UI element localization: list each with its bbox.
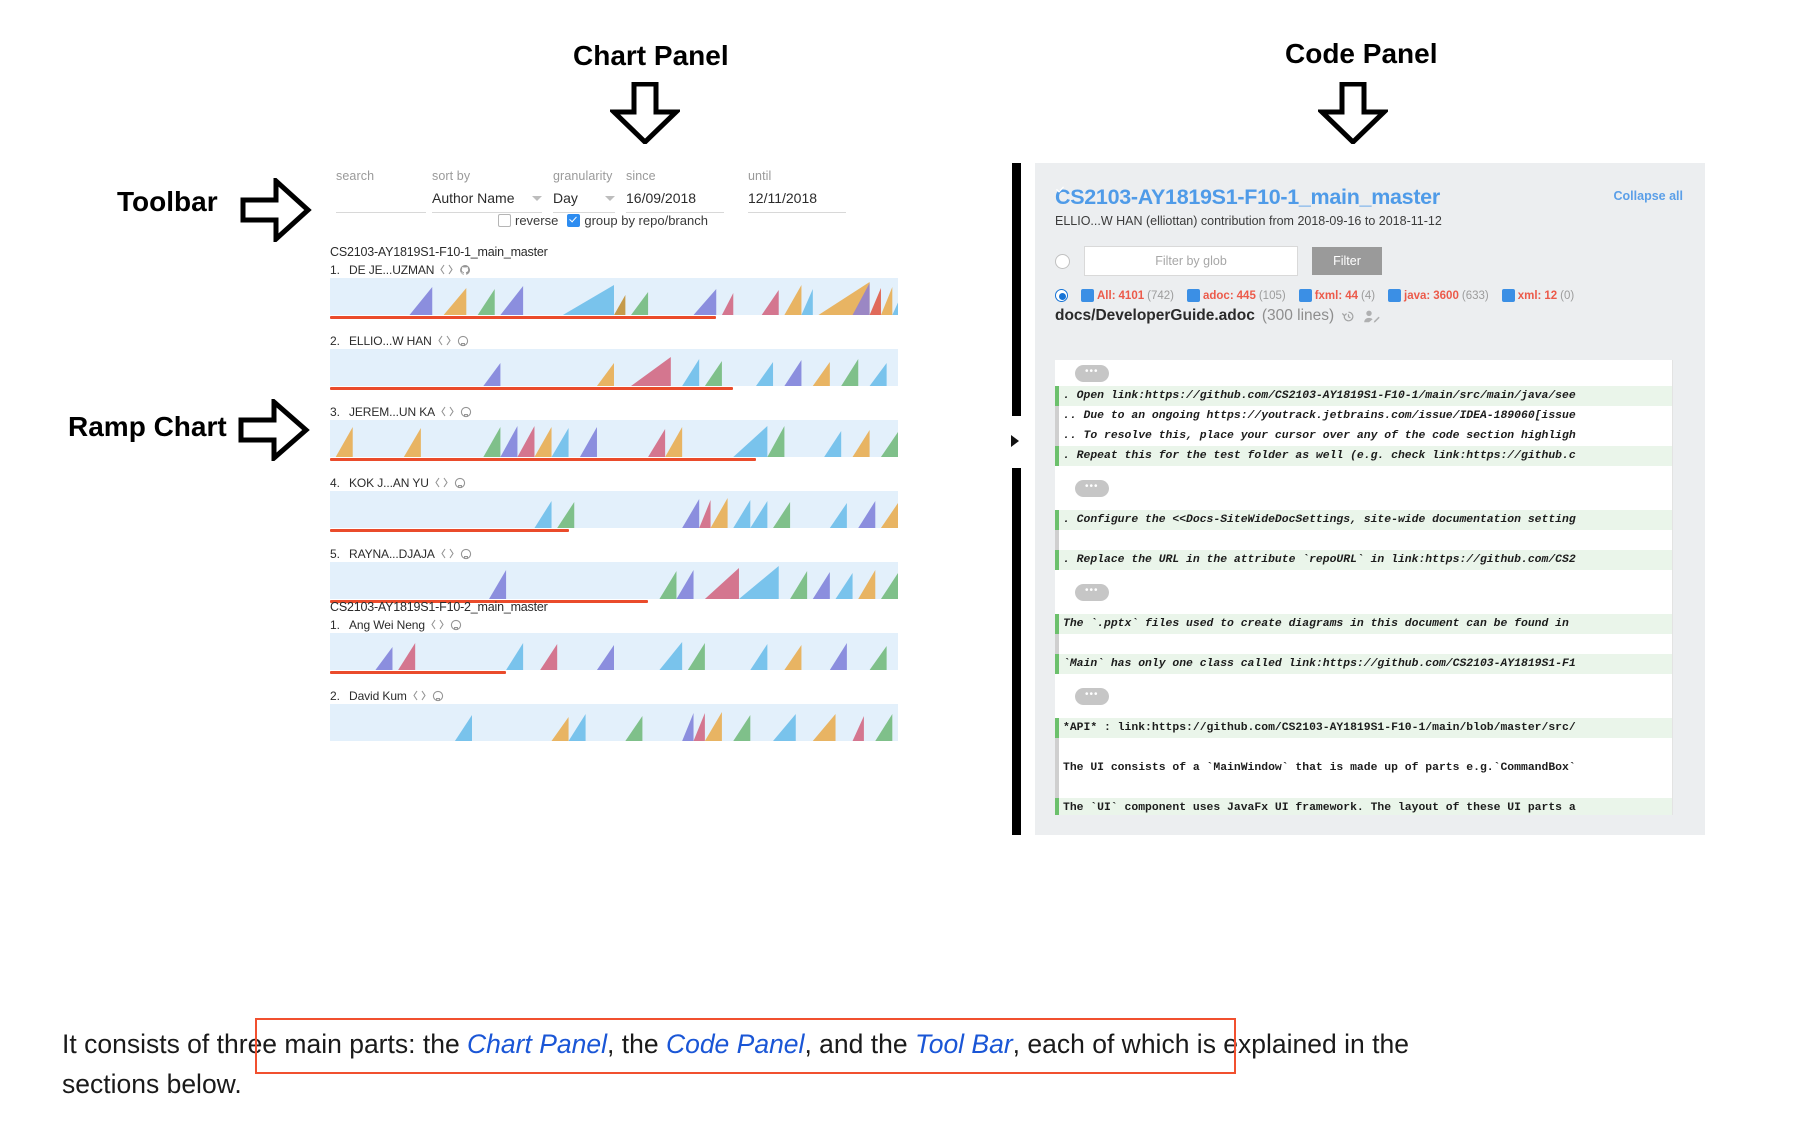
repo-group: CS2103-AY1819S1-F10-2_main_master 1. Ang… — [330, 600, 898, 741]
author-name: RAYNA...DJAJA — [349, 547, 435, 561]
code-gap — [1055, 605, 1672, 614]
ramp-chart[interactable] — [330, 491, 898, 528]
author-row: 5. RAYNA...DJAJA — [330, 545, 898, 603]
caption-highlight-box — [255, 1018, 1236, 1074]
code-line: . Repeat this for the test folder as wel… — [1055, 446, 1672, 466]
toolbar: search sort by Author Name granularity D… — [330, 163, 1010, 233]
code-panel-title[interactable]: CS2103-AY1819S1-F10-1_main_master — [1055, 185, 1695, 210]
file-type-name: xml: — [1518, 290, 1542, 302]
ramp-chart[interactable] — [330, 349, 898, 386]
ramp-chart[interactable] — [330, 562, 898, 599]
file-type-name: All: — [1097, 290, 1116, 302]
file-line-count: (300 lines) — [1262, 307, 1334, 325]
search-input[interactable] — [336, 189, 426, 207]
file-type-count: 4101 — [1119, 290, 1145, 302]
until-input[interactable]: 12/11/2018 — [748, 189, 846, 207]
sort-by-field[interactable]: sort by Author Name — [432, 169, 542, 213]
contribution-bar — [330, 671, 506, 674]
group-by-label: group by repo/branch — [584, 213, 708, 228]
granularity-field[interactable]: granularity Day — [553, 169, 615, 213]
code-line: .. To resolve this, place your cursor ov… — [1055, 426, 1672, 446]
code-line-blank — [1055, 634, 1672, 654]
file-type-adoc[interactable]: adoc: 445 (105) — [1187, 289, 1286, 302]
code-content[interactable]: ••• . Open link:https://github.com/CS210… — [1055, 360, 1673, 815]
author-rank: 4. — [330, 476, 343, 490]
granularity-select[interactable]: Day — [553, 189, 615, 207]
annotation-label-chart-panel: Chart Panel — [573, 40, 729, 72]
repo-title: CS2103-AY1819S1-F10-1_main_master — [330, 245, 898, 259]
checkbox-checked-icon — [1299, 289, 1312, 302]
contribution-bar — [330, 316, 716, 319]
chart-panel: search sort by Author Name granularity D… — [330, 163, 1010, 835]
code-line: . Replace the URL in the attribute `repo… — [1055, 550, 1672, 570]
toolbar-checkbox-group: reverse group by repo/branch — [498, 213, 708, 228]
file-type-name: java: — [1404, 290, 1430, 302]
author-name: JEREM...UN KA — [349, 405, 435, 419]
author-rank: 1. — [330, 263, 343, 277]
author-name: Ang Wei Neng — [349, 618, 425, 632]
code-icon[interactable] — [441, 406, 454, 417]
since-label: since — [626, 169, 724, 183]
chevron-down-icon — [605, 196, 615, 201]
expand-ellipsis-button[interactable]: ••• — [1075, 480, 1109, 497]
github-icon[interactable] — [432, 690, 444, 702]
search-field[interactable]: search — [336, 169, 426, 213]
author-row: 1. DE JE...UZMAN — [330, 261, 898, 319]
code-icon[interactable] — [413, 690, 426, 701]
author-header: 2. David Kum — [330, 687, 898, 704]
code-line: The UI consists of a `MainWindow` that i… — [1055, 758, 1672, 778]
file-type-sub: (633) — [1462, 290, 1489, 302]
file-type-xml[interactable]: xml: 12 (0) — [1502, 289, 1575, 302]
code-ellipsis-row[interactable]: ••• — [1055, 579, 1672, 605]
code-ellipsis-row[interactable]: ••• — [1055, 360, 1672, 386]
contribution-bar — [330, 387, 733, 390]
since-field[interactable]: since 16/09/2018 — [626, 169, 724, 213]
expand-ellipsis-button[interactable]: ••• — [1075, 688, 1109, 705]
blame-icon[interactable] — [1363, 309, 1380, 324]
reverse-label: reverse — [515, 213, 558, 228]
panel-splitter-bottom[interactable] — [1012, 468, 1021, 835]
code-line: . Configure the <<Docs-SiteWideDocSettin… — [1055, 510, 1672, 530]
checkbox-checked-icon — [1388, 289, 1401, 302]
caption-part-1: It consists of — [62, 1029, 217, 1059]
code-line-blank — [1055, 738, 1672, 758]
file-name[interactable]: docs/DeveloperGuide.adoc — [1055, 307, 1255, 325]
until-label: until — [748, 169, 846, 183]
annotation-arrow-code-panel — [1318, 82, 1388, 144]
code-line: The `.pptx` files used to create diagram… — [1055, 614, 1672, 634]
author-header: 4. KOK J...AN YU — [330, 474, 898, 491]
github-icon[interactable] — [454, 477, 466, 489]
author-rank: 5. — [330, 547, 343, 561]
author-rank: 2. — [330, 334, 343, 348]
code-ellipsis-row[interactable]: ••• — [1055, 475, 1672, 501]
author-rank: 2. — [330, 689, 343, 703]
github-icon[interactable] — [459, 264, 471, 276]
history-icon[interactable] — [1341, 309, 1356, 324]
until-field[interactable]: until 12/11/2018 — [748, 169, 846, 213]
author-header: 5. RAYNA...DJAJA — [330, 545, 898, 562]
file-type-sub: (4) — [1361, 290, 1375, 302]
search-label: search — [336, 169, 426, 183]
file-type-sub: (0) — [1560, 290, 1574, 302]
code-line: .. Due to an ongoing https://youtrack.je… — [1055, 406, 1672, 426]
annotation-arrow-ramp-chart — [238, 399, 310, 461]
file-type-name: fxml: — [1315, 290, 1342, 302]
filter-mode-radio-glob[interactable] — [1055, 254, 1070, 269]
filter-mode-radio-filetype[interactable] — [1055, 289, 1068, 302]
since-input[interactable]: 16/09/2018 — [626, 189, 724, 207]
author-row: 1. Ang Wei Neng — [330, 616, 898, 674]
glob-filter-row: Filter by glob Filter — [1055, 246, 1695, 276]
filter-button[interactable]: Filter — [1312, 247, 1382, 275]
sort-by-select[interactable]: Author Name — [432, 189, 542, 207]
code-gap — [1055, 501, 1672, 510]
file-type-count: 445 — [1237, 290, 1256, 302]
code-icon[interactable] — [431, 619, 444, 630]
author-name: David Kum — [349, 689, 407, 703]
ramp-chart[interactable] — [330, 704, 898, 741]
code-line: *API* : link:https://github.com/CS2103-A… — [1055, 718, 1672, 738]
code-icon[interactable] — [441, 548, 454, 559]
sort-by-value: Author Name — [432, 190, 514, 206]
group-by-repo-checkbox[interactable]: group by repo/branch — [567, 213, 708, 228]
author-header: 1. Ang Wei Neng — [330, 616, 898, 633]
code-icon[interactable] — [435, 477, 448, 488]
github-icon[interactable] — [450, 619, 462, 631]
checkbox-icon — [498, 214, 511, 227]
checkbox-checked-icon — [1187, 289, 1200, 302]
author-header: 1. DE JE...UZMAN — [330, 261, 898, 278]
code-line: The `UI` component uses JavaFx UI framew… — [1055, 798, 1672, 815]
glob-input[interactable]: Filter by glob — [1084, 246, 1298, 276]
author-name: DE JE...UZMAN — [349, 263, 434, 277]
author-header: 2. ELLIO...W HAN — [330, 332, 898, 349]
code-panel-subtitle: ELLIO...W HAN (elliottan) contribution f… — [1055, 214, 1695, 228]
repo-group: CS2103-AY1819S1-F10-1_main_master 1. DE … — [330, 245, 898, 603]
reverse-checkbox[interactable]: reverse — [498, 213, 558, 228]
author-row: 2. ELLIO...W HAN — [330, 332, 898, 390]
author-row: 2. David Kum — [330, 687, 898, 741]
code-line-blank — [1055, 778, 1672, 798]
annotation-label-code-panel: Code Panel — [1285, 38, 1437, 70]
ramp-chart[interactable] — [330, 278, 898, 315]
granularity-label: granularity — [553, 169, 615, 183]
file-type-name: adoc: — [1203, 290, 1234, 302]
file-header: docs/DeveloperGuide.adoc (300 lines) — [1055, 307, 1695, 325]
github-icon[interactable] — [457, 335, 469, 347]
file-type-count: 44 — [1345, 290, 1358, 302]
code-line: `Main` has only one class called link:ht… — [1055, 654, 1672, 674]
ramp-chart[interactable] — [330, 633, 898, 670]
github-icon[interactable] — [460, 406, 472, 418]
file-type-sub: (742) — [1147, 290, 1174, 302]
code-ellipsis-row[interactable]: ••• — [1055, 683, 1672, 709]
author-name: ELLIO...W HAN — [349, 334, 432, 348]
code-gap — [1055, 466, 1672, 475]
panel-splitter-top[interactable] — [1012, 163, 1021, 416]
contribution-bar — [330, 529, 569, 532]
ramp-chart[interactable] — [330, 420, 898, 457]
code-icon[interactable] — [438, 335, 451, 346]
code-line: . Open link:https://github.com/CS2103-AY… — [1055, 386, 1672, 406]
granularity-value: Day — [553, 190, 578, 206]
code-icon[interactable] — [440, 264, 453, 275]
author-row: 4. KOK J...AN YU — [330, 474, 898, 532]
file-type-all[interactable]: All: 4101 (742) — [1081, 289, 1174, 302]
splitter-expand-icon[interactable] — [1011, 435, 1019, 447]
code-gap — [1055, 674, 1672, 683]
file-type-java[interactable]: java: 3600 (633) — [1388, 289, 1489, 302]
repo-title: CS2103-AY1819S1-F10-2_main_master — [330, 600, 898, 614]
code-panel: Collapse all CS2103-AY1819S1-F10-1_main_… — [1035, 163, 1705, 835]
annotation-arrow-toolbar — [240, 178, 312, 242]
author-rank: 1. — [330, 618, 343, 632]
sort-by-label: sort by — [432, 169, 542, 183]
file-type-filter-row: All: 4101 (742) adoc: 445 (105) fxml: 44… — [1055, 289, 1695, 302]
annotation-arrow-chart-panel — [610, 82, 680, 144]
github-icon[interactable] — [460, 548, 472, 560]
code-gap — [1055, 709, 1672, 718]
expand-ellipsis-button[interactable]: ••• — [1075, 365, 1109, 382]
author-row: 3. JEREM...UN KA — [330, 403, 898, 461]
code-panel-header: CS2103-AY1819S1-F10-1_main_master ELLIO.… — [1055, 185, 1695, 325]
annotation-label-ramp-chart: Ramp Chart — [68, 411, 227, 443]
checkbox-checked-icon — [1081, 289, 1094, 302]
author-name: KOK J...AN YU — [349, 476, 429, 490]
file-type-fxml[interactable]: fxml: 44 (4) — [1299, 289, 1375, 302]
until-underline — [748, 212, 846, 213]
expand-ellipsis-button[interactable]: ••• — [1075, 584, 1109, 601]
contribution-bar — [330, 458, 756, 461]
chevron-down-icon — [532, 196, 542, 201]
app-screenshot: search sort by Author Name granularity D… — [330, 163, 1705, 835]
file-type-count: 3600 — [1433, 290, 1459, 302]
author-header: 3. JEREM...UN KA — [330, 403, 898, 420]
file-type-count: 12 — [1544, 290, 1557, 302]
checkbox-checked-icon — [1502, 289, 1515, 302]
code-scrollbar[interactable] — [1691, 360, 1705, 815]
author-rank: 3. — [330, 405, 343, 419]
checkbox-checked-icon — [567, 214, 580, 227]
code-line-blank — [1055, 530, 1672, 550]
annotation-label-toolbar: Toolbar — [117, 186, 218, 218]
file-type-sub: (105) — [1259, 290, 1286, 302]
code-gap — [1055, 570, 1672, 579]
search-underline — [336, 212, 426, 213]
